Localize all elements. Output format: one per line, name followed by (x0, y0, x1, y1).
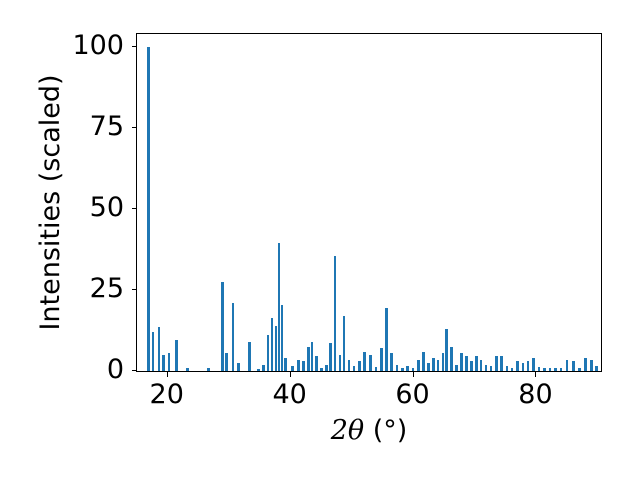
bar (538, 367, 541, 371)
bar (248, 342, 251, 371)
bar (406, 366, 409, 371)
bar (186, 368, 189, 371)
bar (315, 356, 318, 371)
bar (511, 368, 514, 371)
bar (297, 360, 300, 371)
bar (353, 366, 356, 371)
y-axis-tick-label: 0 (0, 356, 124, 383)
x-axis-tick-label: 60 (353, 381, 473, 408)
bar (369, 355, 372, 371)
bar (584, 358, 587, 371)
xrd-chart-figure: Intensities (scaled) 0255075100 20406080… (0, 0, 640, 480)
bar (325, 365, 328, 371)
y-axis-tick-label: 100 (0, 32, 124, 59)
bar (152, 332, 155, 371)
bar (147, 47, 150, 371)
bar (168, 353, 171, 371)
x-axis-label-symbol: 2θ (331, 415, 364, 446)
bar (432, 358, 435, 371)
bar (532, 358, 535, 371)
bar (358, 361, 361, 371)
y-axis-tick-label: 25 (0, 275, 124, 302)
x-axis-tick-mark (167, 372, 168, 377)
x-axis-tick-mark (413, 372, 414, 377)
bar (554, 368, 557, 371)
bar (442, 353, 445, 371)
bar (427, 363, 430, 371)
bar (320, 368, 323, 371)
bar (445, 329, 448, 371)
bar (495, 356, 498, 371)
bar (390, 353, 393, 371)
bar (302, 361, 305, 371)
bar (339, 355, 342, 371)
bar-series-diffraction-peaks (137, 34, 601, 371)
bar (158, 327, 161, 371)
bar (311, 342, 314, 371)
bar (422, 352, 425, 371)
bar (560, 368, 563, 371)
bar (455, 365, 458, 371)
bar (412, 368, 415, 371)
bar (543, 368, 546, 371)
bar (485, 365, 488, 371)
bar (506, 366, 509, 371)
bar (396, 365, 399, 371)
bar (291, 366, 294, 371)
bar (566, 360, 569, 371)
bar (475, 356, 478, 371)
bar (334, 256, 337, 371)
bar (343, 316, 346, 371)
bar (527, 361, 530, 371)
bar (401, 368, 404, 371)
x-axis-tick-label: 40 (230, 381, 350, 408)
bar (225, 353, 228, 371)
bar (257, 369, 260, 371)
bar (595, 366, 598, 371)
bar (417, 360, 420, 371)
bar (375, 367, 378, 371)
bar (460, 353, 463, 371)
x-axis-tick-mark (535, 372, 536, 377)
bar (237, 363, 240, 371)
bar (232, 303, 235, 371)
x-axis-label-unit: (°) (373, 415, 408, 446)
bar (307, 347, 310, 371)
bar (549, 368, 552, 371)
bar (281, 305, 284, 371)
plot-area (136, 33, 602, 372)
bar (385, 308, 388, 371)
bar (490, 366, 493, 371)
bar (162, 355, 165, 371)
bar (207, 368, 210, 371)
bar (380, 348, 383, 371)
bar (348, 360, 351, 371)
bar (480, 360, 483, 371)
bar (221, 282, 224, 371)
y-axis-tick-label: 75 (0, 113, 124, 140)
bar (522, 363, 525, 371)
x-axis-tick-label: 80 (475, 381, 595, 408)
bar (363, 352, 366, 371)
bar (590, 360, 593, 371)
x-axis-tick-label: 20 (107, 381, 227, 408)
bar (470, 361, 473, 371)
y-axis-tick-label: 50 (0, 194, 124, 221)
bar (572, 361, 575, 371)
bar (175, 340, 178, 371)
bar (329, 343, 332, 371)
bar (271, 318, 274, 371)
bar (465, 356, 468, 371)
bar (267, 335, 270, 371)
x-axis-tick-mark (290, 372, 291, 377)
bar (500, 356, 503, 371)
x-axis-label: 2θ (°) (136, 415, 602, 446)
bar (262, 365, 265, 371)
bar (578, 368, 581, 371)
bar (284, 358, 287, 371)
bar (437, 360, 440, 371)
bar (516, 361, 519, 371)
bar (450, 347, 453, 371)
